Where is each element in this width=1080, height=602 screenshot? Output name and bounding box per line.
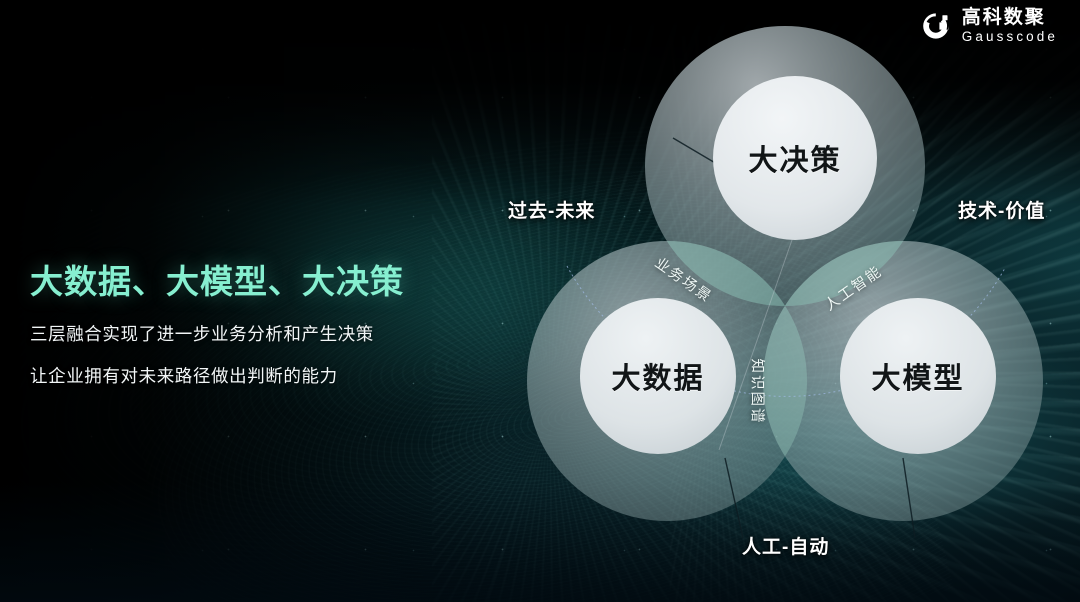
axis-label-past-future: 过去-未来 (508, 196, 595, 223)
venn-label-bigmodel-wrap[interactable]: 大模型 (840, 298, 996, 454)
venn-connector-3 (903, 458, 915, 538)
venn-label-bigdata: 大数据 (611, 355, 704, 397)
page-title: 大数据、大模型、大决策 (30, 255, 490, 303)
headline-block: 大数据、大模型、大决策 三层融合实现了进一步业务分析和产生决策 让企业拥有对未来… (30, 255, 490, 388)
axis-label-tech-value: 技术-价值 (958, 196, 1045, 223)
axis-label-manual-auto: 人工-自动 (742, 532, 829, 559)
venn-label-decision-wrap[interactable]: 大决策 (713, 76, 877, 240)
slide-canvas: 高科数聚 Gausscode 大数据、大模型、大决策 三层融合实现了进一步业务分… (0, 0, 1080, 602)
venn-label-bigmodel: 大模型 (871, 355, 964, 397)
venn-label-bigdata-wrap[interactable]: 大数据 (580, 298, 736, 454)
venn-label-knowledge-graph: 知识图谱 (748, 359, 769, 425)
venn-label-artificial-intelligence: 人工智能 (820, 260, 886, 315)
venn-diagram: 大决策 大数据 大模型 业务场景 人工智能 知识图谱 (505, 18, 1065, 578)
subtitle-line-2: 让企业拥有对未来路径做出判断的能力 (30, 363, 490, 388)
venn-connector-2 (725, 458, 743, 538)
subtitle-line-1: 三层融合实现了进一步业务分析和产生决策 (30, 321, 490, 346)
venn-label-decision: 大决策 (748, 137, 841, 179)
